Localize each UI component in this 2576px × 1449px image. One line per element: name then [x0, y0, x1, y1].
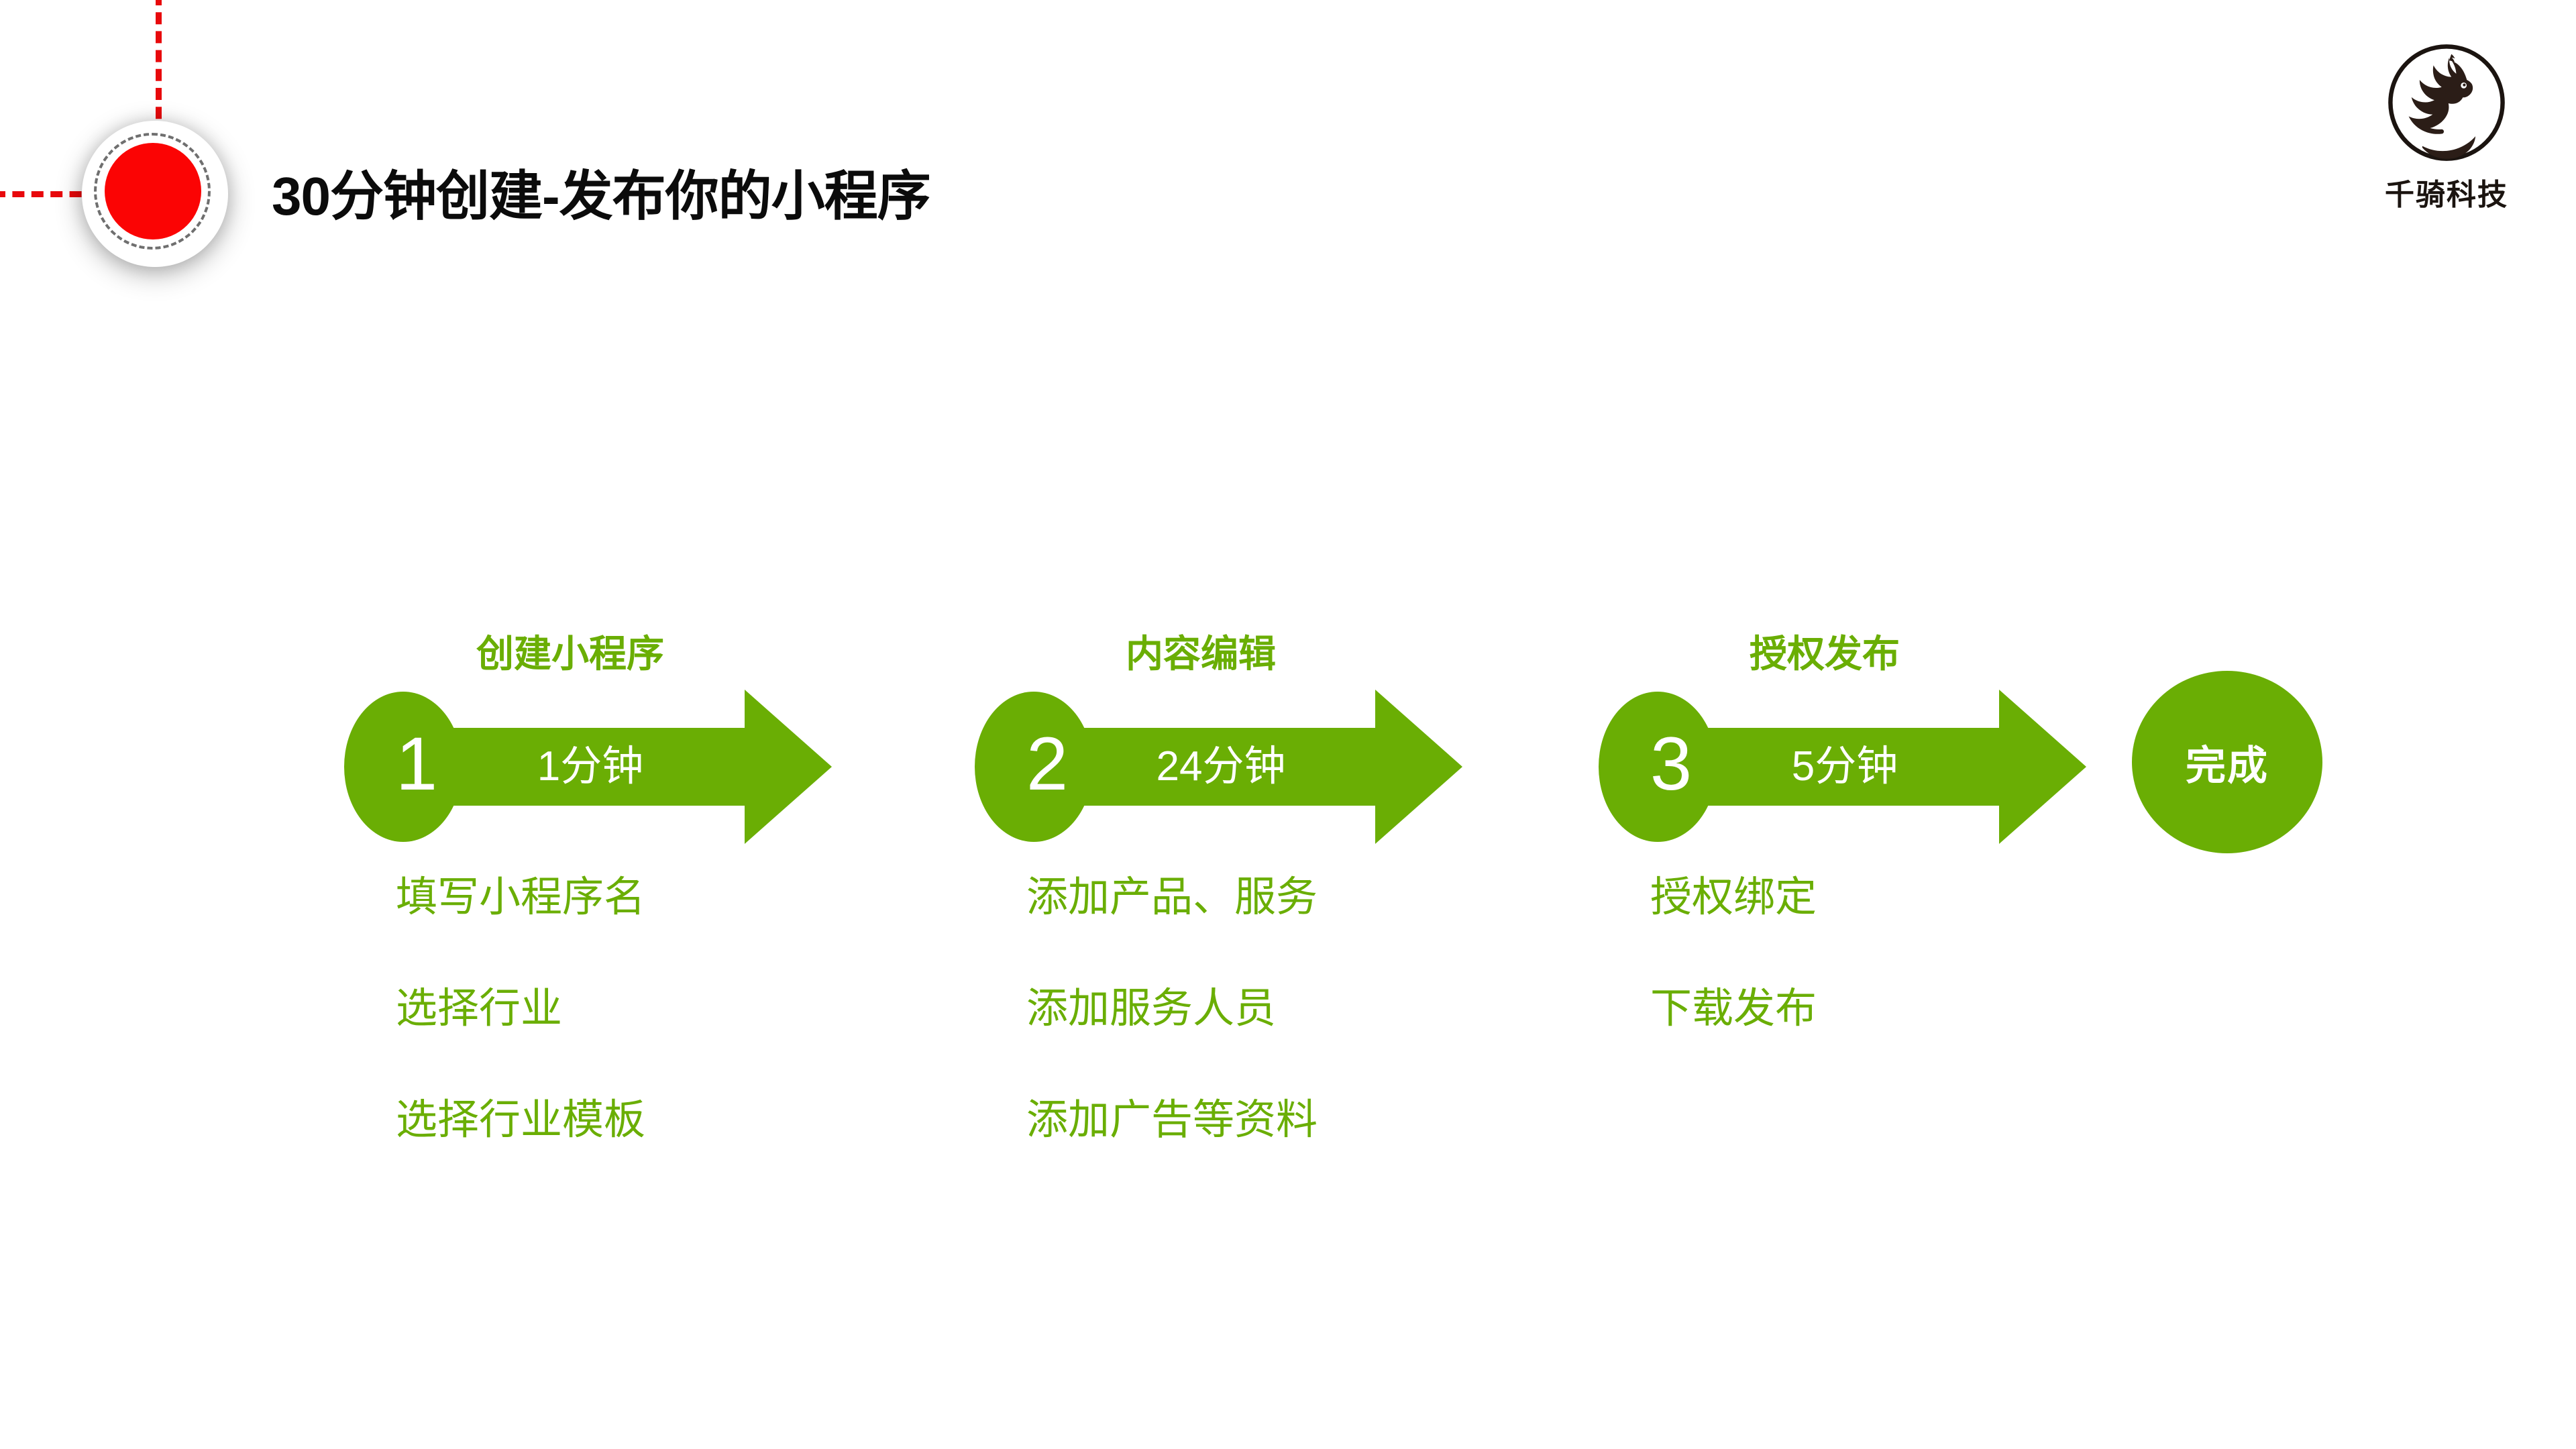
list-item: 选择行业模板 — [396, 1096, 906, 1144]
flow-finish-node[interactable]: 完成 — [2132, 671, 2322, 853]
step-1-arrow: 1 1分钟 — [315, 690, 825, 844]
step-3-arrow: 3 5分钟 — [1570, 690, 2080, 844]
step-3-duration: 5分钟 — [1711, 730, 1979, 804]
step-3-bullets: 授权绑定 下载发布 — [1650, 873, 2160, 1096]
list-item: 下载发布 — [1650, 985, 2160, 1033]
list-item: 添加广告等资料 — [1026, 1096, 1536, 1144]
step-2-number: 2 — [1005, 722, 1089, 806]
list-item: 填写小程序名 — [396, 873, 906, 922]
step-1-title: 创建小程序 — [315, 624, 825, 678]
step-3-title: 授权发布 — [1570, 624, 2080, 678]
step-1-bullets: 填写小程序名 选择行业 选择行业模板 — [396, 873, 906, 1207]
step-2-title: 内容编辑 — [946, 624, 1456, 678]
list-item: 授权绑定 — [1650, 873, 2160, 922]
list-item: 添加产品、服务 — [1026, 873, 1536, 922]
finish-label: 完成 — [2186, 733, 2269, 792]
list-item: 添加服务人员 — [1026, 985, 1536, 1033]
step-3-number: 3 — [1629, 722, 1713, 806]
step-2-bullets: 添加产品、服务 添加服务人员 添加广告等资料 — [1026, 873, 1536, 1207]
step-1-number: 1 — [374, 722, 459, 806]
process-flow: 创建小程序 1 1分钟 填写小程序名 选择行业 选择行业模板 内容编辑 2 24… — [0, 0, 2576, 1449]
step-2-duration: 24分钟 — [1087, 730, 1355, 804]
step-2-arrow: 2 24分钟 — [946, 690, 1456, 844]
list-item: 选择行业 — [396, 985, 906, 1033]
step-1-duration: 1分钟 — [456, 730, 724, 804]
